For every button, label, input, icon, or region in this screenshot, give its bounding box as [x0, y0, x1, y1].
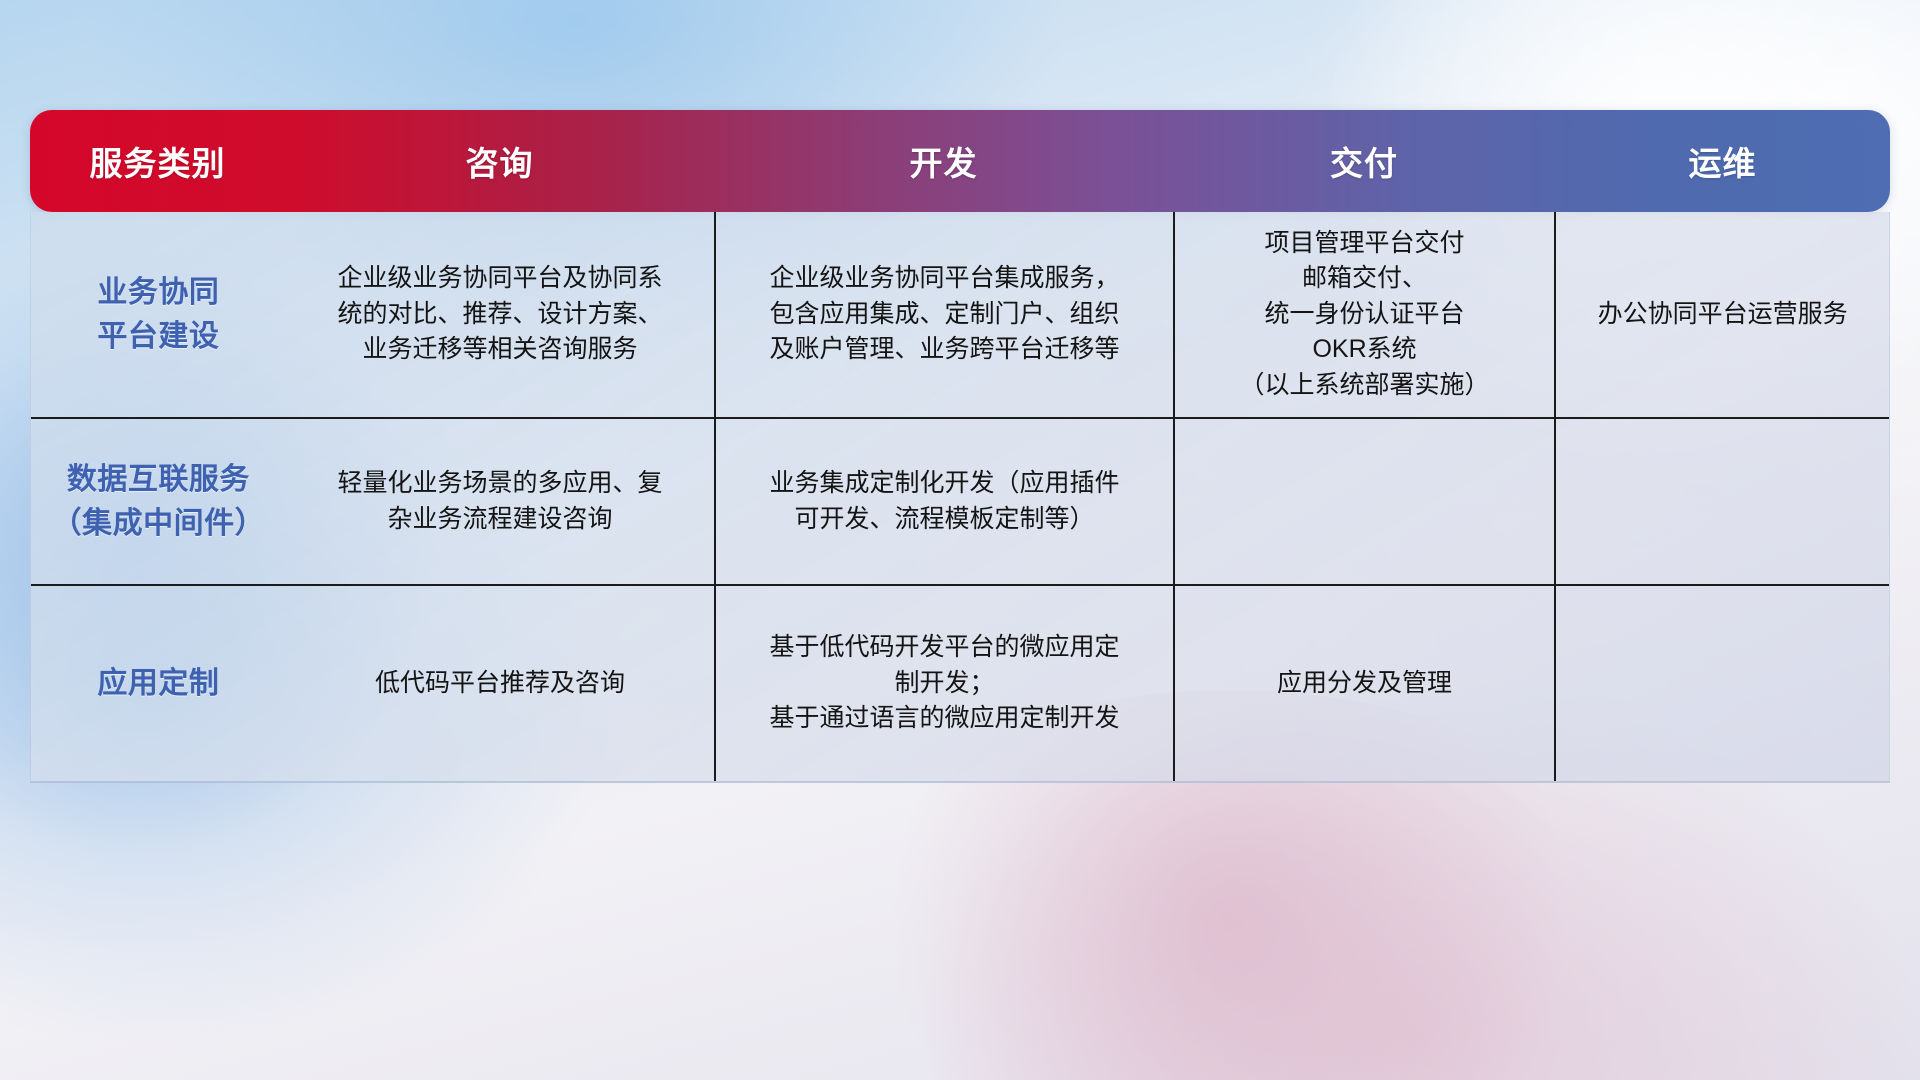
table-row: 应用定制 低代码平台推荐及咨询 基于低代码开发平台的微应用定 制开发； 基于通过… [31, 586, 1889, 781]
cell-development-row2: 业务集成定制化开发（应用插件 可开发、流程模板定制等） [714, 419, 1173, 584]
cell-operations-row1: 办公协同平台运营服务 [1554, 212, 1889, 417]
cell-consulting-row2: 轻量化业务场景的多应用、复 杂业务流程建设咨询 [286, 419, 715, 584]
table-body: 业务协同 平台建设 企业级业务协同平台及协同系 统的对比、推荐、设计方案、 业务… [30, 212, 1890, 783]
cell-consulting-row3: 低代码平台推荐及咨询 [286, 586, 715, 781]
row-label-business-collaboration: 业务协同 平台建设 [31, 212, 286, 417]
cell-delivery-row1: 项目管理平台交付 邮箱交付、 统一身份认证平台 OKR系统 （以上系统部署实施） [1173, 212, 1555, 417]
table-row: 业务协同 平台建设 企业级业务协同平台及协同系 统的对比、推荐、设计方案、 业务… [31, 212, 1889, 419]
table-row: 数据互联服务 （集成中间件） 轻量化业务场景的多应用、复 杂业务流程建设咨询 业… [31, 419, 1889, 586]
column-header-service-category: 服务类别 [30, 137, 285, 185]
cell-development-row3: 基于低代码开发平台的微应用定 制开发； 基于通过语言的微应用定制开发 [714, 586, 1173, 781]
column-header-development: 开发 [714, 137, 1173, 185]
cell-consulting-row1: 企业级业务协同平台及协同系 统的对比、推荐、设计方案、 业务迁移等相关咨询服务 [286, 212, 715, 417]
column-header-consulting: 咨询 [285, 137, 714, 185]
service-matrix-table: 服务类别 咨询 开发 交付 运维 业务协同 平台建设 企业级业务协同平台及协同系… [30, 110, 1890, 783]
table-header-row: 服务类别 咨询 开发 交付 运维 [30, 110, 1890, 212]
cell-development-row1: 企业级业务协同平台集成服务， 包含应用集成、定制门户、组织 及账户管理、业务跨平… [714, 212, 1173, 417]
cell-delivery-row3: 应用分发及管理 [1173, 586, 1555, 781]
column-header-delivery: 交付 [1173, 137, 1555, 185]
cell-operations-row2 [1554, 419, 1889, 584]
column-header-operations: 运维 [1555, 137, 1890, 185]
cell-delivery-row2 [1173, 419, 1555, 584]
cell-operations-row3 [1554, 586, 1889, 781]
row-label-application-customization: 应用定制 [31, 586, 286, 781]
row-label-data-interconnection: 数据互联服务 （集成中间件） [31, 419, 286, 584]
